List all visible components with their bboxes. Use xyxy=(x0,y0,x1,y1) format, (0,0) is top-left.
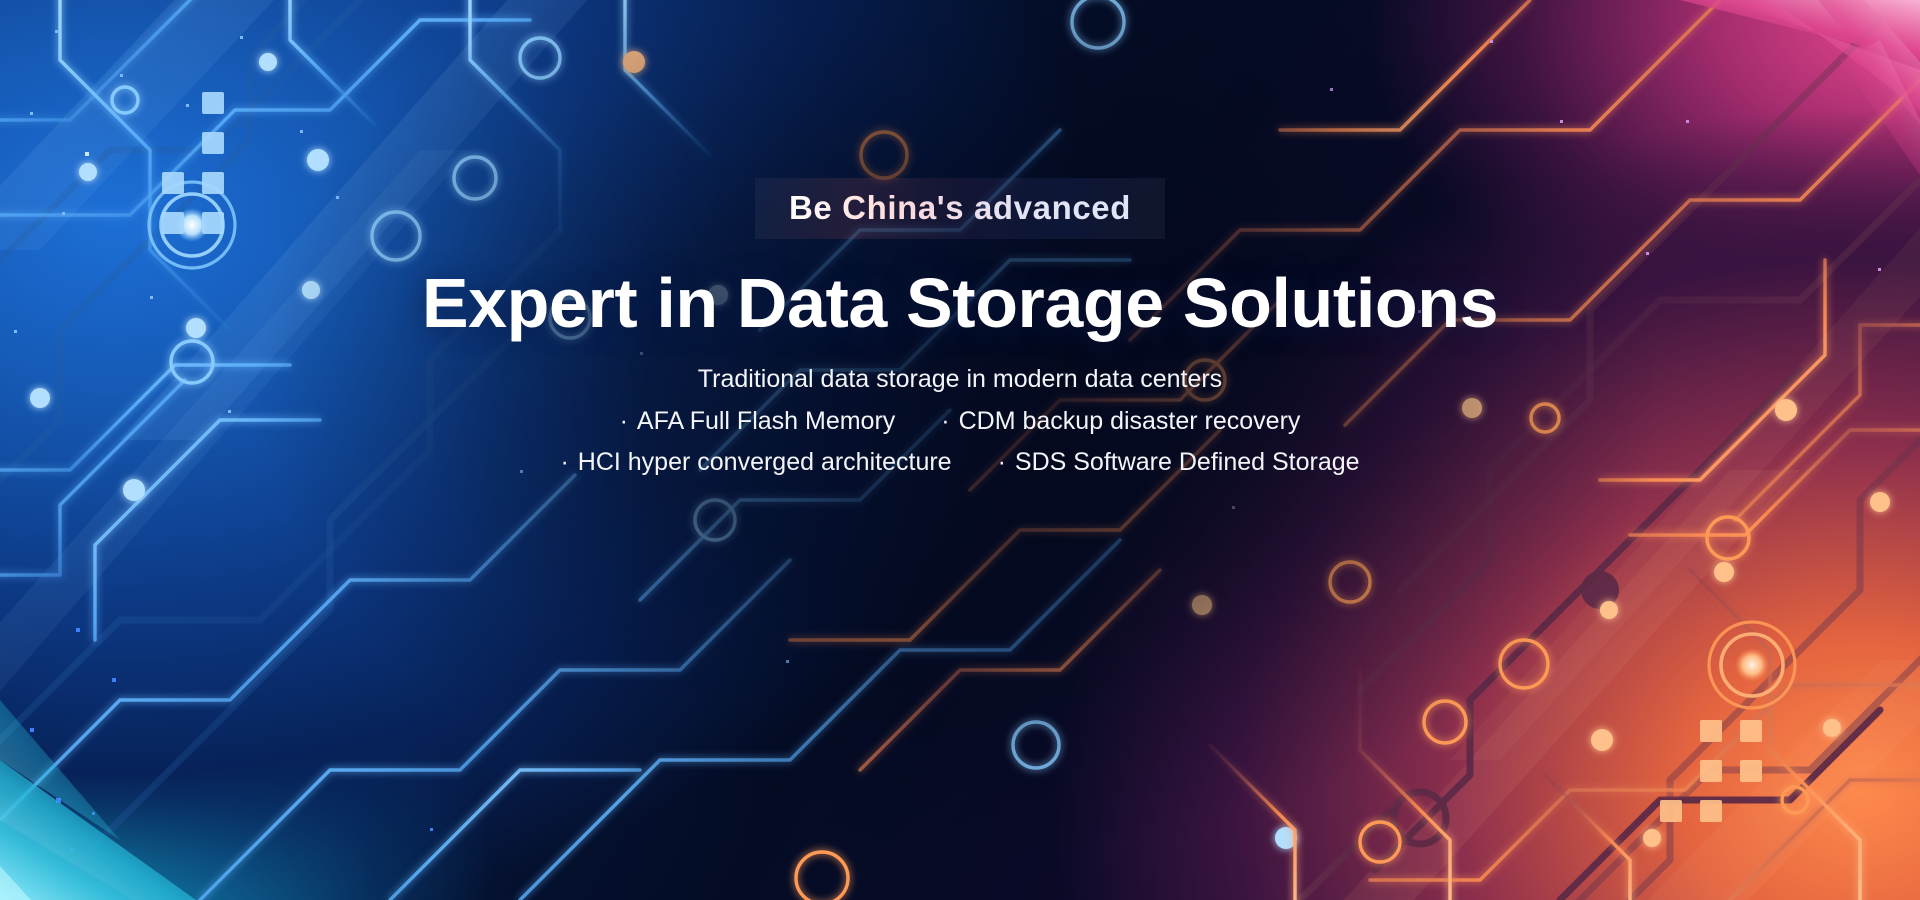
hero-content: Be China's advanced Expert in Data Stora… xyxy=(0,178,1920,475)
subtitle-text: Traditional data storage in modern data … xyxy=(698,367,1222,392)
teal-light-streaks xyxy=(0,700,210,900)
feature-item: CDM backup disaster recovery xyxy=(941,409,1300,434)
feature-list: AFA Full Flash Memory CDM backup disaste… xyxy=(560,409,1359,475)
eyebrow-text: Be China's advanced xyxy=(789,191,1131,224)
eyebrow-panel: Be China's advanced xyxy=(755,178,1165,239)
hero-banner: Be China's advanced Expert in Data Stora… xyxy=(0,0,1920,900)
magenta-light-streaks xyxy=(1640,0,1920,175)
feature-item: SDS Software Defined Storage xyxy=(998,450,1360,475)
right-square-cluster xyxy=(1660,720,1762,822)
right-maroon-nodes xyxy=(1394,571,1619,844)
page-title: Expert in Data Storage Solutions xyxy=(422,268,1498,338)
feature-row: HCI hyper converged architecture SDS Sof… xyxy=(560,450,1359,475)
feature-row: AFA Full Flash Memory CDM backup disaste… xyxy=(620,409,1301,434)
feature-item: AFA Full Flash Memory xyxy=(620,409,896,434)
right-concentric-rings xyxy=(1709,622,1795,708)
feature-item: HCI hyper converged architecture xyxy=(560,450,951,475)
